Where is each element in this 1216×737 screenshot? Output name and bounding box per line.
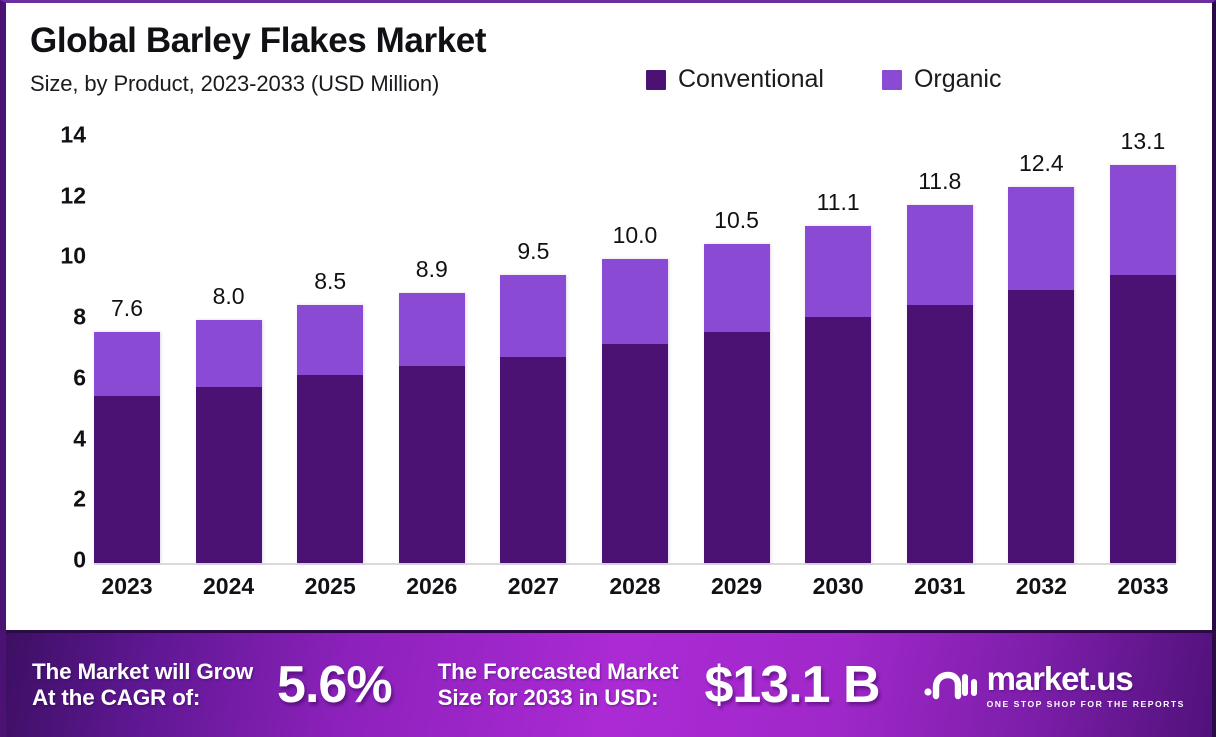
y-axis-tick-label: 6 [32,364,86,391]
chart-plot-area: 02468101214 7.68.08.58.99.510.010.511.11… [94,135,1194,565]
y-axis-tick-label: 0 [32,547,86,574]
legend-swatch-icon [882,70,902,90]
bar-value-label: 8.0 [213,283,245,310]
x-axis-tick-label: 2023 [94,573,160,600]
cagr-label: The Market will Grow At the CAGR of: [32,659,253,711]
bar-group-2031[interactable]: 11.8 [907,138,973,563]
bar-segment-organic[interactable] [805,226,871,317]
bar-segment-conventional[interactable] [196,387,262,563]
logo-text-wrap: market.us ONE STOP SHOP FOR THE REPORTS [987,662,1185,709]
bar-group-2032[interactable]: 12.4 [1008,138,1074,563]
bar-value-label: 9.5 [517,238,549,265]
bar-segment-organic[interactable] [1110,165,1176,274]
bar-series-container: 7.68.08.58.99.510.010.511.111.812.413.1 [94,138,1176,563]
bar-segment-organic[interactable] [500,275,566,357]
bar-segment-organic[interactable] [196,320,262,387]
y-axis-tick-label: 14 [32,122,86,149]
legend-swatch-icon [646,70,666,90]
bar-value-label: 11.1 [817,189,860,216]
chart-header: Global Barley Flakes Market Size, by Pro… [30,23,486,97]
bar-value-label: 12.4 [1019,150,1064,177]
cagr-value: 5.6% [277,655,392,715]
market-infographic: Global Barley Flakes Market Size, by Pro… [0,0,1216,737]
bar-segment-conventional[interactable] [500,357,566,563]
logo-wordmark: market.us [987,662,1133,695]
bar-segment-conventional[interactable] [805,317,871,563]
bar-value-label: 8.5 [314,268,346,295]
forecast-block: The Forecasted Market Size for 2033 in U… [438,655,880,715]
legend-item-conventional[interactable]: Conventional [646,65,824,94]
bar-stack[interactable] [297,305,363,563]
x-axis-tick-label: 2029 [704,573,770,600]
bar-group-2023[interactable]: 7.6 [94,138,160,563]
legend-item-label: Conventional [678,65,824,94]
bar-group-2026[interactable]: 8.9 [399,138,465,563]
bar-stack[interactable] [704,244,770,563]
page-title: Global Barley Flakes Market [30,23,486,60]
x-axis-tick-label: 2028 [602,573,668,600]
page-subtitle: Size, by Product, 2023-2033 (USD Million… [30,71,486,97]
bar-stack[interactable] [805,226,871,563]
bar-value-label: 11.8 [918,168,961,195]
bar-group-2025[interactable]: 8.5 [297,138,363,563]
x-axis-tick-label: 2033 [1110,573,1176,600]
y-axis-tick-label: 10 [32,243,86,270]
bar-segment-organic[interactable] [704,244,770,332]
bar-segment-conventional[interactable] [94,396,160,563]
forecast-label-line2: Size for 2033 in USD: [438,685,659,710]
x-axis-tick-label: 2024 [196,573,262,600]
bar-value-label: 8.9 [416,256,448,283]
y-axis-tick-label: 4 [32,425,86,452]
legend-item-label: Organic [914,65,1002,94]
x-axis: 2023202420252026202720282029203020312032… [94,573,1176,600]
bar-group-2030[interactable]: 11.1 [805,138,871,563]
bar-segment-conventional[interactable] [399,366,465,563]
bar-stack[interactable] [196,320,262,563]
bar-stack[interactable] [1110,165,1176,563]
bar-stack[interactable] [94,332,160,563]
bar-stack[interactable] [1008,187,1074,563]
bar-segment-organic[interactable] [1008,187,1074,290]
forecast-label: The Forecasted Market Size for 2033 in U… [438,659,679,711]
bar-segment-organic[interactable] [297,305,363,375]
bar-group-2024[interactable]: 8.0 [196,138,262,563]
forecast-label-line1: The Forecasted Market [438,659,679,684]
bar-segment-conventional[interactable] [297,375,363,563]
bar-stack[interactable] [399,293,465,563]
x-axis-tick-label: 2030 [805,573,871,600]
footer-banner: The Market will Grow At the CAGR of: 5.6… [6,630,1216,737]
cagr-label-line2: At the CAGR of: [32,685,200,710]
bar-segment-conventional[interactable] [704,332,770,563]
x-axis-baseline [94,563,1176,565]
bar-group-2027[interactable]: 9.5 [500,138,566,563]
y-axis-tick-label: 12 [32,182,86,209]
bar-value-label: 13.1 [1121,128,1166,155]
y-axis: 02468101214 [32,135,86,560]
logo-tagline: ONE STOP SHOP FOR THE REPORTS [987,699,1185,709]
x-axis-tick-label: 2026 [399,573,465,600]
bar-chart-swoosh-icon [924,666,978,704]
legend-item-organic[interactable]: Organic [882,65,1002,94]
bar-segment-conventional[interactable] [1008,290,1074,563]
bar-value-label: 10.0 [613,222,658,249]
x-axis-tick-label: 2032 [1008,573,1074,600]
cagr-block: The Market will Grow At the CAGR of: 5.6… [32,655,392,715]
bar-value-label: 10.5 [714,207,759,234]
bar-group-2029[interactable]: 10.5 [704,138,770,563]
bar-value-label: 7.6 [111,295,143,322]
bar-segment-conventional[interactable] [602,344,668,563]
bar-segment-conventional[interactable] [1110,275,1176,563]
bar-segment-organic[interactable] [94,332,160,396]
cagr-label-line1: The Market will Grow [32,659,253,684]
market-us-logo[interactable]: market.us ONE STOP SHOP FOR THE REPORTS [924,662,1185,709]
x-axis-tick-label: 2025 [297,573,363,600]
bar-segment-organic[interactable] [602,259,668,344]
bar-stack[interactable] [907,205,973,563]
x-axis-tick-label: 2027 [500,573,566,600]
forecast-value: $13.1 B [704,655,879,715]
bar-segment-conventional[interactable] [907,305,973,563]
x-axis-tick-label: 2031 [907,573,973,600]
bar-segment-organic[interactable] [399,293,465,366]
bar-stack[interactable] [500,275,566,563]
bar-segment-organic[interactable] [907,205,973,305]
y-axis-tick-label: 8 [32,304,86,331]
chart-legend: ConventionalOrganic [646,65,1001,94]
bar-group-2033[interactable]: 13.1 [1110,138,1176,563]
bar-group-2028[interactable]: 10.0 [602,138,668,563]
bar-stack[interactable] [602,259,668,563]
y-axis-tick-label: 2 [32,486,86,513]
